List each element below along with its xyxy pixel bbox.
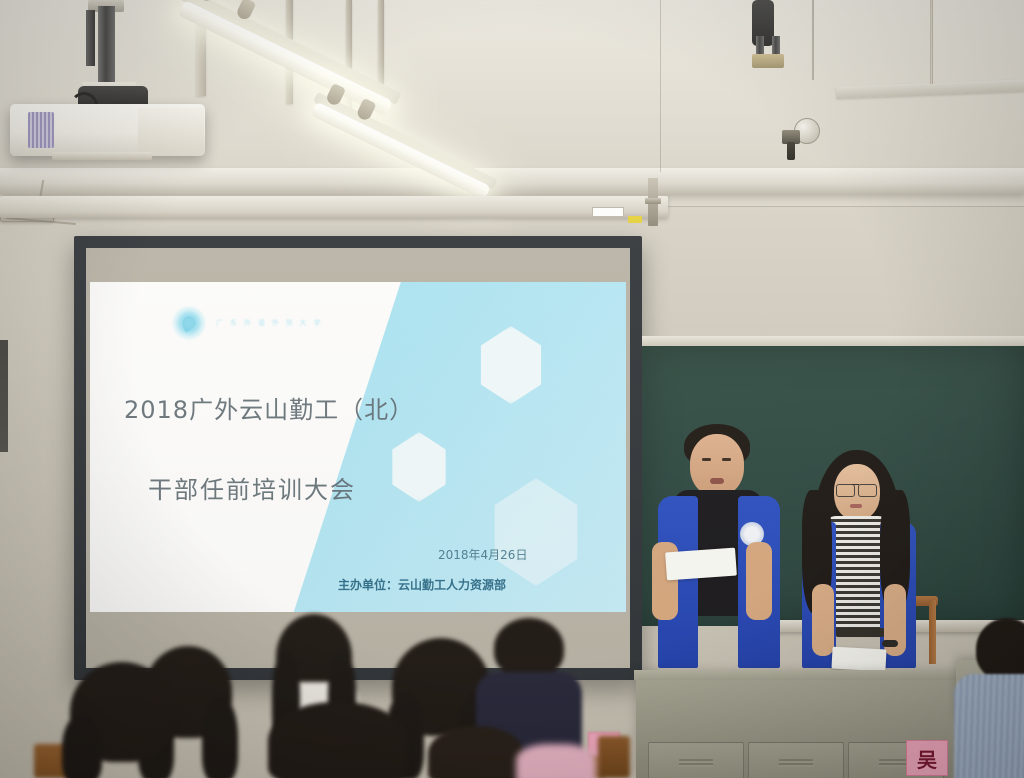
audience-shirt xyxy=(954,674,1024,778)
presenter-script-paper xyxy=(665,548,737,581)
projector-pole xyxy=(98,6,115,84)
presenter-eye xyxy=(722,458,731,461)
audience-member xyxy=(516,744,596,778)
screen-label xyxy=(592,207,624,217)
presenter-belt xyxy=(836,628,884,637)
presenter-glasses-icon xyxy=(858,484,877,497)
projector-pole-secondary xyxy=(86,10,95,66)
slide-logo-icon xyxy=(172,306,206,340)
classroom-photo: 广 东 外 语 外 贸 大 学 2018广外云山勤工（北） 干部任前培训大会 2… xyxy=(0,0,1024,778)
slide-date: 2018年4月26日 xyxy=(438,546,527,563)
presenter-mouth xyxy=(850,504,862,508)
rail-drop-rod xyxy=(930,0,933,84)
ceiling-beam xyxy=(0,168,1024,194)
wall-seam xyxy=(660,0,661,172)
presenter-script-paper xyxy=(831,647,886,672)
projector-underside xyxy=(52,152,152,160)
audience-member xyxy=(268,702,408,778)
presenter-mouth xyxy=(710,478,724,484)
slide-title: 2018广外云山勤工（北） xyxy=(124,390,414,425)
slide-organizer: 主办单位：云山勤工人力资源部 xyxy=(338,576,506,593)
name-card: 吴 xyxy=(906,740,948,776)
audience-member-foreground xyxy=(962,618,1024,778)
slide-logo-text: 广 东 外 语 外 贸 大 学 xyxy=(216,318,323,328)
projector-front-face xyxy=(138,108,204,152)
presenter-arm-right xyxy=(746,542,772,620)
projector-vent xyxy=(28,112,54,148)
left-wall-panel xyxy=(0,340,8,452)
screen-bracket-arm xyxy=(645,198,661,204)
seat xyxy=(598,736,630,778)
yellow-sticker xyxy=(628,216,642,223)
slide-area: 广 东 外 语 外 贸 大 学 2018广外云山勤工（北） 干部任前培训大会 2… xyxy=(90,282,626,612)
podium-panel xyxy=(748,742,844,778)
presenter-head xyxy=(690,434,744,496)
speaker-stem xyxy=(787,142,795,160)
projection-screen-housing xyxy=(0,196,668,218)
presenter-wristband xyxy=(882,640,898,647)
male-presenter xyxy=(652,424,782,680)
podium-panel xyxy=(648,742,744,778)
glasses-bridge xyxy=(852,484,859,485)
podium-top-edge xyxy=(634,670,978,680)
presenter-glasses-icon xyxy=(836,484,855,497)
female-presenter xyxy=(796,452,922,682)
audience-member xyxy=(428,726,524,778)
slide-subtitle: 干部任前培训大会 xyxy=(148,470,356,505)
ceiling-wire xyxy=(812,0,814,80)
presenter-arm-left xyxy=(812,584,834,656)
presenter-eye xyxy=(702,458,711,461)
ceiling-wood-plate xyxy=(752,54,784,68)
audience-member xyxy=(62,662,182,778)
